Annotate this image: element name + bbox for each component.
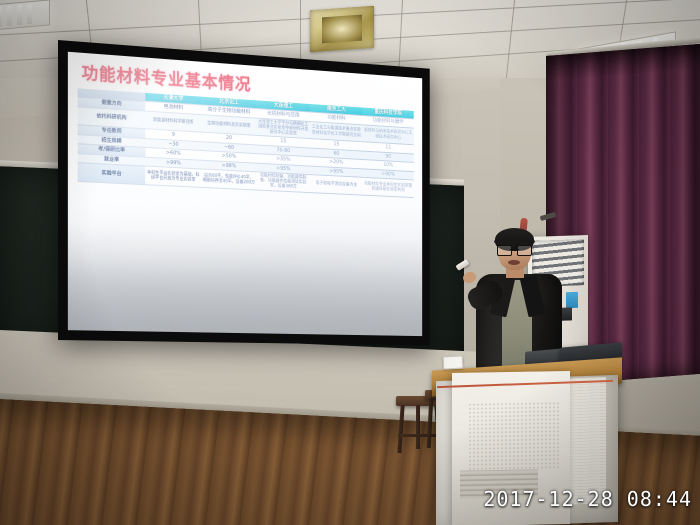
presenter-mouth [508, 260, 520, 265]
podium-perforation [468, 401, 560, 471]
projection-screen-frame: 功能材料专业基本情况 天津大学 北京化工 大连理工 南京工大 重庆科技学院 [58, 40, 430, 345]
table-cell: 综合60平，性能评价40平，细胞培养室40平，设备200万 [201, 169, 256, 190]
camera-timestamp: 2017-12-28 08:44 [483, 487, 692, 511]
table-cell: 本科生平台实验室为基础，科研平台开放为专业实验室 [145, 166, 201, 187]
slide-table: 天津大学 北京化工 大连理工 南京工大 重庆科技学院 侧重方向 电池材料 高分子… [78, 88, 414, 197]
row-label: 实验平台 [78, 163, 145, 185]
table-cell: 电子和电学测试设备为主 [310, 175, 362, 195]
table-cell: 功能材料专业本科生实验室暨校级科研实验室共用 [362, 177, 413, 197]
podium-label-card [443, 355, 464, 369]
projection-screen: 功能材料专业基本情况 天津大学 北京化工 大连理工 南京工大 重庆科技学院 [68, 52, 422, 336]
table-cell: 功能材料制备、功能器件制备、功能器件性能测试实验室，设备388万 [256, 172, 310, 192]
ceiling-light-icon [0, 0, 50, 31]
ceiling-air-vent-icon [310, 6, 374, 52]
slide-content: 功能材料专业基本情况 天津大学 北京化工 大连理工 南京工大 重庆科技学院 [68, 52, 422, 336]
classroom-photo: 功能材料专业基本情况 天津大学 北京化工 大连理工 南京工大 重庆科技学院 [0, 0, 700, 525]
eyeglasses-icon [497, 245, 532, 254]
